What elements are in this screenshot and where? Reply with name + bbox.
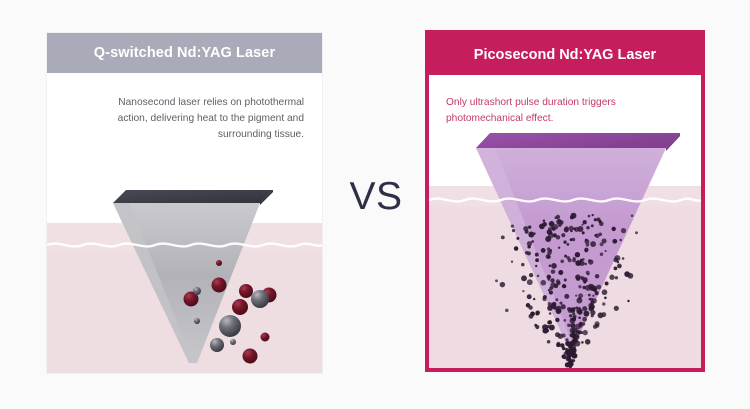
q-switched-panel-title: Q-switched Nd:YAG Laser (94, 45, 275, 61)
picosecond-panel-body: Only ultrashort pulse duration triggers … (429, 75, 701, 368)
picosecond-illustration (429, 75, 701, 368)
q-switched-panel-body: Nanosecond laser relies on photothermal … (47, 73, 322, 373)
q-switched-panel: Q-switched Nd:YAG Laser Nanosecond laser… (47, 33, 322, 373)
infographic-canvas: Q-switched Nd:YAG Laser Nanosecond laser… (0, 0, 750, 409)
picosecond-panel-header: Picosecond Nd:YAG Laser (429, 34, 701, 75)
versus-label: VS (341, 177, 411, 216)
q-switched-panel-header: Q-switched Nd:YAG Laser (47, 33, 322, 73)
picosecond-panel-title: Picosecond Nd:YAG Laser (474, 47, 656, 63)
q-switched-illustration (47, 73, 322, 373)
picosecond-panel: Picosecond Nd:YAG Laser Only ultrashort … (425, 30, 705, 372)
